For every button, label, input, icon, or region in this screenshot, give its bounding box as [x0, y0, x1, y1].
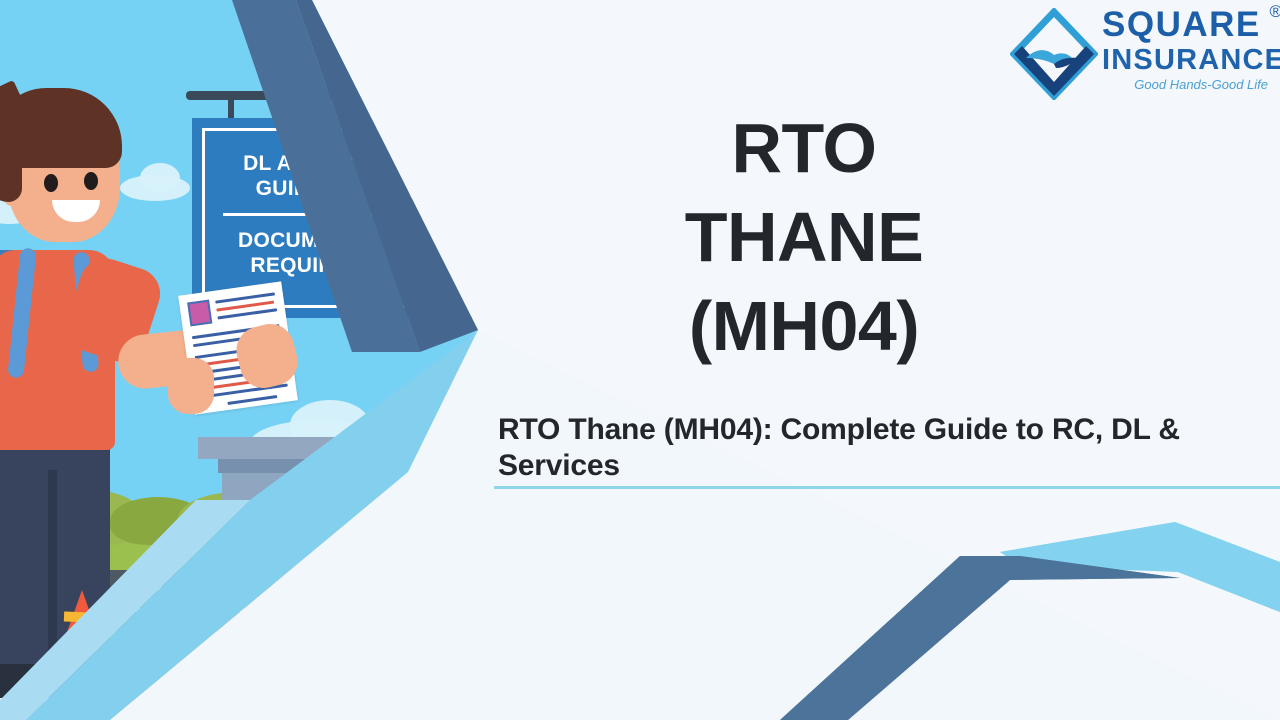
sign-line-1: DL APPLICA	[205, 151, 409, 176]
logo-word-square: SQUARE	[1102, 6, 1270, 44]
title-line-1: RTO	[494, 104, 1114, 193]
page-title: RTO THANE (MH04)	[494, 104, 1114, 371]
sign-line-2: GUIDELIN	[205, 176, 409, 201]
road-marking	[280, 586, 322, 591]
slide-canvas: DL APPLICA GUIDELIN DOCUMENTS REQUIRED	[0, 0, 1280, 720]
podium-neck	[218, 459, 328, 473]
road-marking	[200, 586, 242, 591]
subtitle-underline	[494, 486, 1280, 489]
title-line-3: (MH04)	[494, 282, 1114, 371]
person-eye-left	[44, 174, 58, 192]
road-marking	[360, 586, 402, 591]
podium-body	[222, 473, 322, 583]
traffic-cone-band	[64, 612, 92, 623]
sign-line-4: REQUIRED	[205, 253, 409, 278]
logo-wordmark: SQUARE INSURANCE Good Hands-Good Life	[1102, 6, 1270, 94]
sign-hanger-bar	[186, 91, 342, 100]
shoe	[0, 664, 66, 698]
logo-word-insurance: INSURANCE	[1102, 44, 1270, 76]
person-eye-right	[84, 172, 98, 190]
person-leg-split	[48, 470, 57, 680]
logo-tagline: Good Hands-Good Life	[1102, 76, 1270, 94]
hero-illustration: DL APPLICA GUIDELIN DOCUMENTS REQUIRED	[0, 0, 480, 720]
sign-line-3: DOCUMENTS	[205, 228, 409, 253]
podium-top	[198, 437, 346, 459]
diamond-logo-icon	[1010, 8, 1098, 100]
person-hand-left	[168, 358, 214, 414]
road-marking	[120, 586, 162, 591]
title-line-2: THANE	[494, 193, 1114, 282]
sign-divider	[223, 213, 391, 216]
square-insurance-logo[interactable]: SQUARE INSURANCE Good Hands-Good Life ®	[1010, 2, 1272, 112]
person-hair-side	[0, 120, 22, 202]
document-photo	[187, 300, 212, 327]
bush-icon	[340, 492, 458, 546]
page-subtitle: RTO Thane (MH04): Complete Guide to RC, …	[498, 412, 1220, 484]
cloud-icon	[140, 163, 180, 193]
registered-trademark-icon: ®	[1269, 2, 1280, 22]
